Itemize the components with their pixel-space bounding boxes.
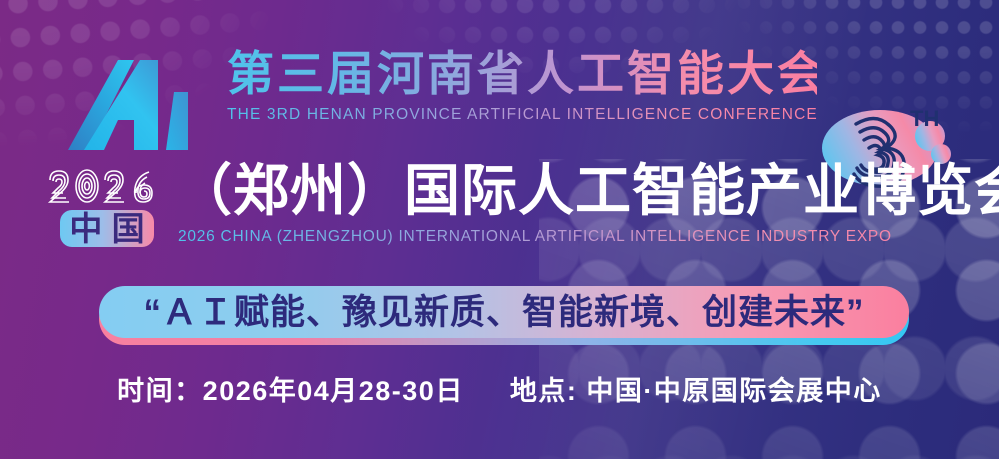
expo-cn-title: （郑州）国际人工智能产业博览会 bbox=[176, 160, 956, 223]
conference-banner: 第三届河南省人工智能大会 THE 3RD HENAN PROVINCE ARTI… bbox=[0, 0, 999, 459]
slogan-banner: “ＡＩ赋能、豫见新质、智能新境、创建未来” bbox=[99, 286, 909, 344]
conference-cn-title: 第三届河南省人工智能大会 bbox=[227, 48, 817, 100]
expo-en-title: 2026 CHINA (ZHENGZHOU) INTERNATIONAL ART… bbox=[178, 228, 956, 246]
edition-badge-suffix: TH bbox=[910, 106, 939, 131]
event-venue: 地点: 中国·中原国际会展中心 bbox=[510, 369, 882, 408]
expo-title-row: 中 国 2026 （郑州）国际人工智能产业博览会 2026 CHINA (ZHE… bbox=[0, 160, 999, 270]
ai-logo-icon bbox=[62, 58, 202, 152]
event-info-row: 时间：2026年04月28-30日 地点: 中国·中原国际会展中心 bbox=[0, 366, 999, 410]
expo-title-block: （郑州）国际人工智能产业博览会 2026 CHINA (ZHENGZHOU) I… bbox=[176, 160, 956, 246]
event-date: 时间：2026年04月28-30日 bbox=[117, 369, 464, 408]
year-country-logo: 中 国 2026 bbox=[44, 164, 172, 249]
conference-title-block: 第三届河南省人工智能大会 THE 3RD HENAN PROVINCE ARTI… bbox=[227, 48, 817, 124]
conference-en-title: THE 3RD HENAN PROVINCE ARTIFICIAL INTELL… bbox=[227, 106, 817, 124]
conference-title-row: 第三届河南省人工智能大会 THE 3RD HENAN PROVINCE ARTI… bbox=[0, 44, 999, 154]
year-country-label: 中 国 bbox=[69, 210, 144, 247]
slogan-text: “ＡＩ赋能、豫见新质、智能新境、创建未来” bbox=[143, 295, 864, 330]
slogan-pill: “ＡＩ赋能、豫见新质、智能新境、创建未来” bbox=[99, 286, 909, 338]
